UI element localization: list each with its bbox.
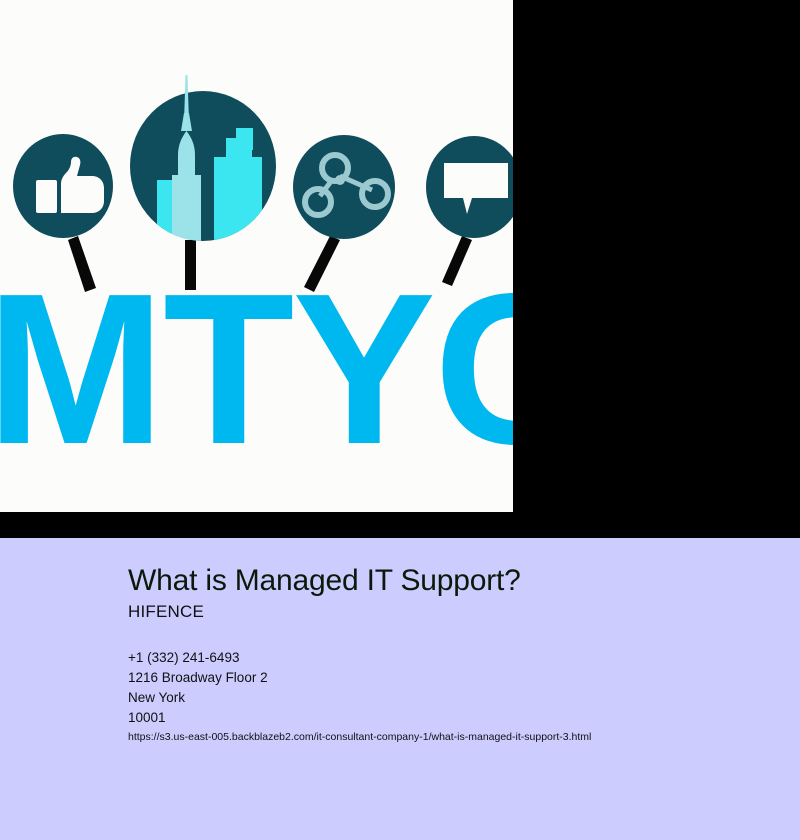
cropped-wordmark: MTYC: [0, 248, 513, 489]
icon-badge-thumbs-up: [13, 134, 113, 238]
icon-badge-network: [293, 135, 395, 239]
contact-city: New York: [128, 688, 268, 708]
skyline-tower-lower: [172, 175, 201, 242]
thumbs-up-base: [36, 180, 57, 213]
contact-zip: 10001: [128, 708, 268, 728]
hero-illustration: MTYC: [0, 0, 513, 512]
page-title: What is Managed IT Support?: [128, 564, 521, 598]
letterbox-bottom: [0, 512, 800, 538]
wordmark-letters: MTYC: [0, 248, 513, 489]
source-url[interactable]: https://s3.us-east-005.backblazeb2.com/i…: [128, 731, 591, 743]
contact-phone: +1 (332) 241-6493: [128, 648, 268, 668]
network-node-center: [335, 175, 345, 185]
info-panel: What is Managed IT Support? HIFENCE +1 (…: [0, 538, 800, 840]
skyline-block-right-top: [236, 128, 253, 150]
contact-street: 1216 Broadway Floor 2: [128, 668, 268, 688]
letterbox-right: [513, 0, 800, 512]
hero-image: MTYC: [0, 0, 513, 512]
contact-block: +1 (332) 241-6493 1216 Broadway Floor 2 …: [128, 648, 268, 728]
brand-name: HIFENCE: [128, 602, 204, 622]
badge-circle-3: [293, 135, 395, 239]
